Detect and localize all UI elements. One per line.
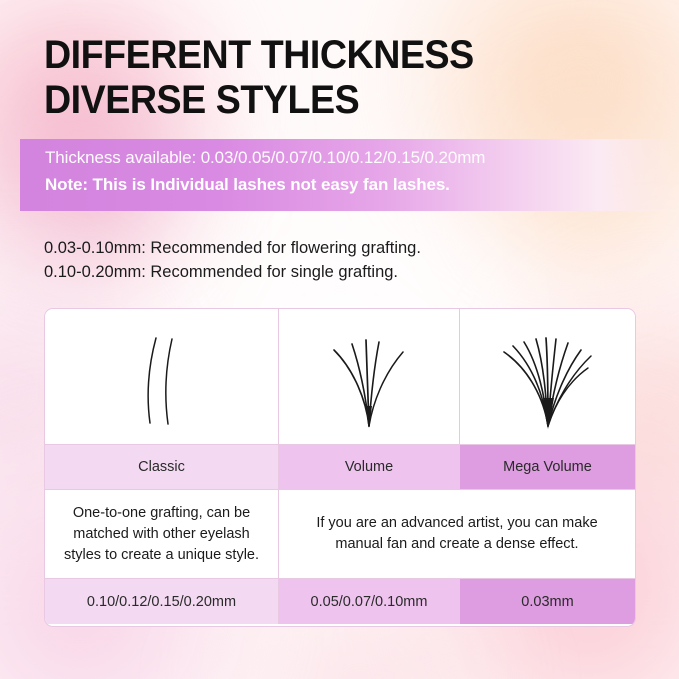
recommendation-item-2: 0.10-0.20mm: Recommended for single graf… (44, 260, 421, 284)
lash-style-comparison-table: Classic Volume Mega Volume One-to-one gr… (44, 308, 636, 627)
thickness-volume: 0.05/0.07/0.10mm (278, 579, 459, 624)
table-cell-illustration-mega-volume (459, 309, 635, 444)
page-title-line-2: DIVERSE STYLES (44, 78, 608, 123)
description-classic: One-to-one grafting, can be matched with… (45, 490, 278, 578)
style-label-classic: Classic (45, 445, 278, 489)
style-label-volume: Volume (278, 445, 459, 489)
table-row-illustrations (45, 309, 635, 444)
banner-note-text: Note: This is Individual lashes not easy… (45, 175, 450, 195)
thickness-available-text: Thickness available: 0.03/0.05/0.07/0.10… (45, 148, 485, 168)
table-row-thickness: 0.10/0.12/0.15/0.20mm 0.05/0.07/0.10mm 0… (45, 578, 635, 624)
mega-volume-fan-icon (488, 322, 608, 432)
recommendation-item-1: 0.03-0.10mm: Recommended for flowering g… (44, 236, 421, 260)
style-label-mega-volume: Mega Volume (459, 445, 635, 489)
table-row-descriptions: One-to-one grafting, can be matched with… (45, 490, 635, 578)
table-cell-illustration-classic (45, 309, 278, 444)
classic-lash-pair-icon (122, 322, 202, 432)
volume-fan-icon (314, 322, 424, 432)
recommendation-list: 0.03-0.10mm: Recommended for flowering g… (44, 236, 421, 284)
page-title: DIFFERENT THICKNESS DIVERSE STYLES (44, 33, 644, 123)
thickness-classic: 0.10/0.12/0.15/0.20mm (45, 579, 278, 624)
table-cell-illustration-volume (278, 309, 459, 444)
page-title-line-1: DIFFERENT THICKNESS (44, 33, 608, 78)
thickness-mega-volume: 0.03mm (459, 579, 635, 624)
table-row-style-labels: Classic Volume Mega Volume (45, 444, 635, 490)
thickness-banner: Thickness available: 0.03/0.05/0.07/0.10… (20, 139, 679, 211)
description-volume-mega: If you are an advanced artist, you can m… (278, 490, 635, 578)
